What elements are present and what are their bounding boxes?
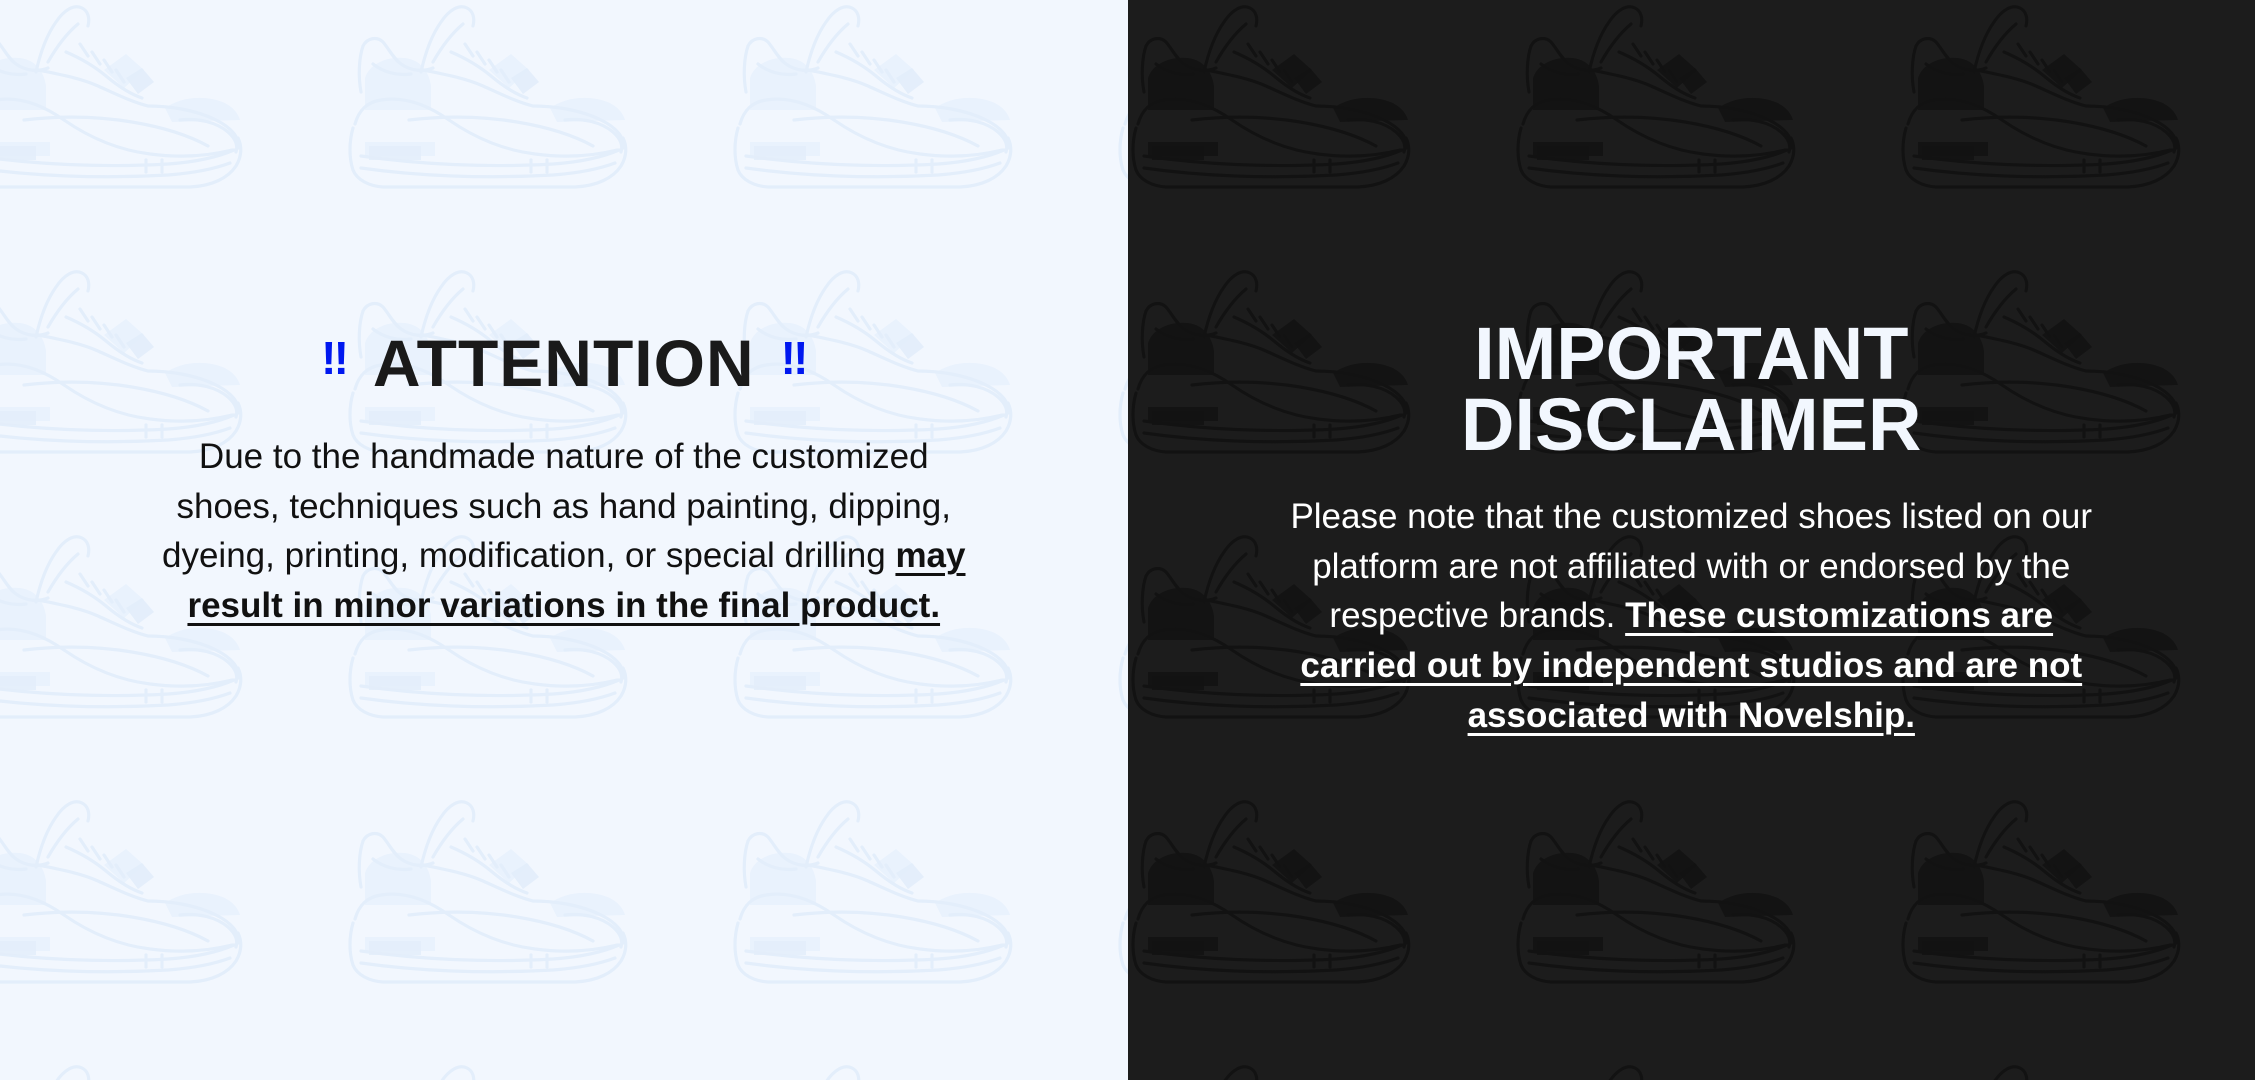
- attention-body: Due to the handmade nature of the custom…: [149, 432, 979, 631]
- attention-content: ‼ ATTENTION ‼ Due to the handmade nature…: [0, 330, 1128, 631]
- attention-body-normal: Due to the handmade nature of the custom…: [162, 437, 951, 575]
- disclaimer-heading: IMPORTANT DISCLAIMER: [1168, 318, 2216, 460]
- disclaimer-heading-line2: DISCLAIMER: [1461, 383, 1921, 466]
- double-exclamation-icon-right: ‼: [781, 335, 807, 381]
- disclaimer-content: IMPORTANT DISCLAIMER Please note that th…: [1128, 318, 2255, 741]
- attention-heading-text: ATTENTION: [373, 330, 755, 396]
- disclaimer-panel: IMPORTANT DISCLAIMER Please note that th…: [1128, 0, 2255, 1080]
- double-exclamation-icon-left: ‼: [321, 335, 347, 381]
- attention-panel: ‼ ATTENTION ‼ Due to the handmade nature…: [0, 0, 1128, 1080]
- attention-heading: ‼ ATTENTION ‼: [40, 330, 1088, 396]
- notice-banner: ‼ ATTENTION ‼ Due to the handmade nature…: [0, 0, 2255, 1080]
- disclaimer-body: Please note that the customized shoes li…: [1271, 492, 2111, 740]
